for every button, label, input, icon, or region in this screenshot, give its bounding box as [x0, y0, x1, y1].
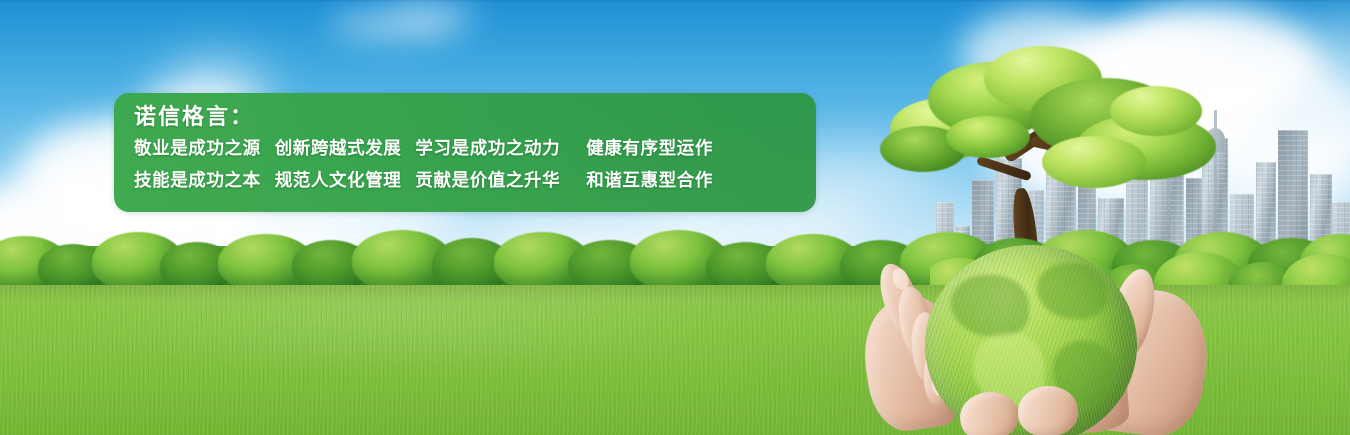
cloud-mid-2 [390, 4, 480, 24]
tree-branch [976, 156, 1032, 182]
motto-segment: 学习是成功之动力 [415, 132, 560, 164]
motto-line-2: 技能是成功之本规范人文化管理贡献是价值之升华和谐互惠型合作 [134, 164, 802, 196]
motto-panel-title: 诺信格言： [134, 102, 802, 132]
eco-culture-banner: 诺信格言： 敬业是成功之源创新跨越式发展学习是成功之动力健康有序型运作 技能是成… [0, 0, 1350, 435]
motto-line-1: 敬业是成功之源创新跨越式发展学习是成功之动力健康有序型运作 [134, 132, 802, 164]
tree-canopy [1042, 136, 1146, 188]
sky-top-edge [0, 0, 1350, 2]
motto-segment: 和谐互惠型合作 [586, 164, 713, 196]
motto-panel: 诺信格言： 敬业是成功之源创新跨越式发展学习是成功之动力健康有序型运作 技能是成… [114, 93, 816, 212]
motto-segment: 技能是成功之本 [134, 164, 261, 196]
motto-segment: 健康有序型运作 [586, 132, 713, 164]
motto-segment: 规范人文化管理 [275, 164, 402, 196]
motto-segment: 敬业是成功之源 [134, 132, 261, 164]
motto-segment: 创新跨越式发展 [275, 132, 402, 164]
tree-canopy [946, 116, 1030, 158]
tree-canopy [1110, 86, 1202, 136]
motto-segment: 贡献是价值之升华 [415, 164, 560, 196]
